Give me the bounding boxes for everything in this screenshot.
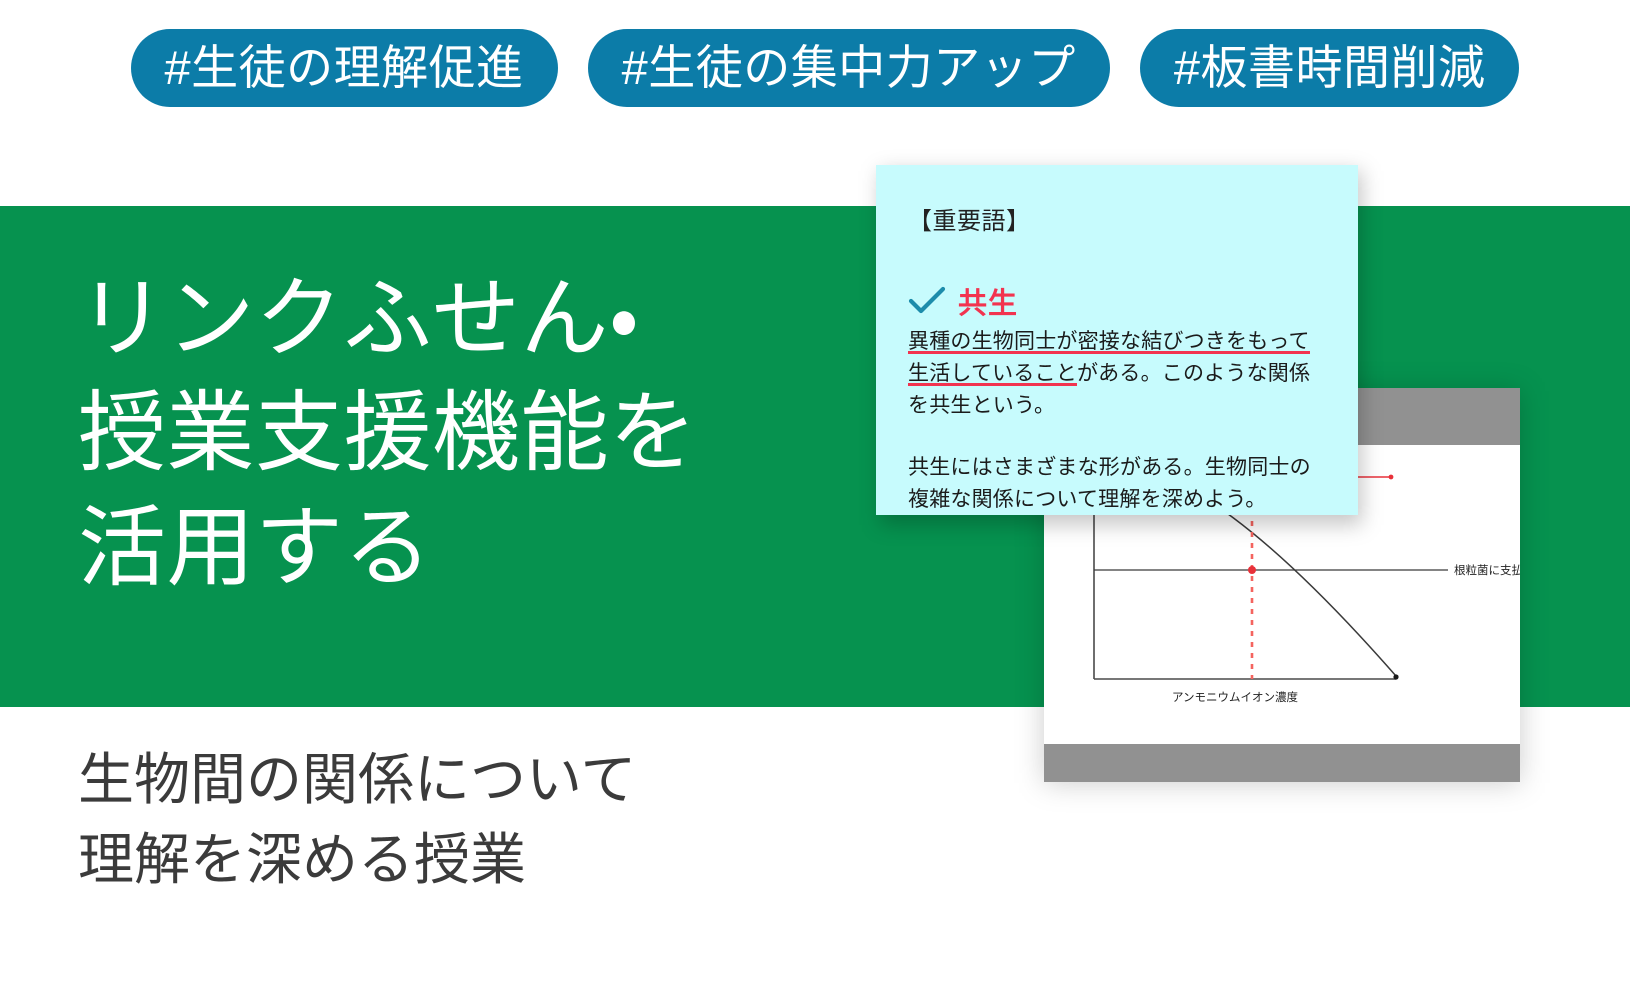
chart-xaxis-label: アンモニウムイオン濃度 — [1172, 690, 1299, 704]
tag-boardwriting[interactable]: #板書時間削減 — [1140, 29, 1520, 107]
sticky-note-term: 共生 — [958, 280, 1018, 322]
sticky-note-spacer — [908, 422, 1328, 452]
sticky-note[interactable]: 【重要語】 共生 異種の生物同士が密接な結びつきをもって生活していることがある。… — [862, 155, 1362, 525]
sticky-note-paragraph-1: 異種の生物同士が密接な結びつきをもって生活していることがある。このような関係を共… — [908, 326, 1328, 422]
chart-label-cost: 根粒菌に支払うコスト — [1454, 563, 1520, 577]
tag-understanding[interactable]: #生徒の理解促進 — [131, 29, 558, 107]
sticky-note-paragraph-2: 共生にはさまざまな形がある。生物同士の複雑な関係について理解を深めよう。 — [908, 452, 1328, 516]
sticky-note-term-row: 共生 — [908, 280, 1328, 322]
check-icon — [908, 286, 946, 316]
hashtag-row: #生徒の理解促進 #生徒の集中力アップ #板書時間削減 — [0, 27, 1630, 109]
poster-canvas: #生徒の理解促進 #生徒の集中力アップ #板書時間削減 リンクふせん・ 授業支援… — [0, 0, 1630, 989]
sticky-note-body: 【重要語】 共生 異種の生物同士が密接な結びつきをもって生活していることがある。… — [876, 165, 1358, 515]
slide-bottom-bar — [1044, 744, 1520, 782]
tag-concentration[interactable]: #生徒の集中力アップ — [588, 29, 1110, 107]
sticky-note-kicker: 【重要語】 — [908, 201, 1328, 236]
page-title: リンクふせん・ 授業支援機能を 活用する — [78, 262, 698, 605]
page-subtitle: 生物間の関係について 理解を深める授業 — [78, 740, 636, 899]
